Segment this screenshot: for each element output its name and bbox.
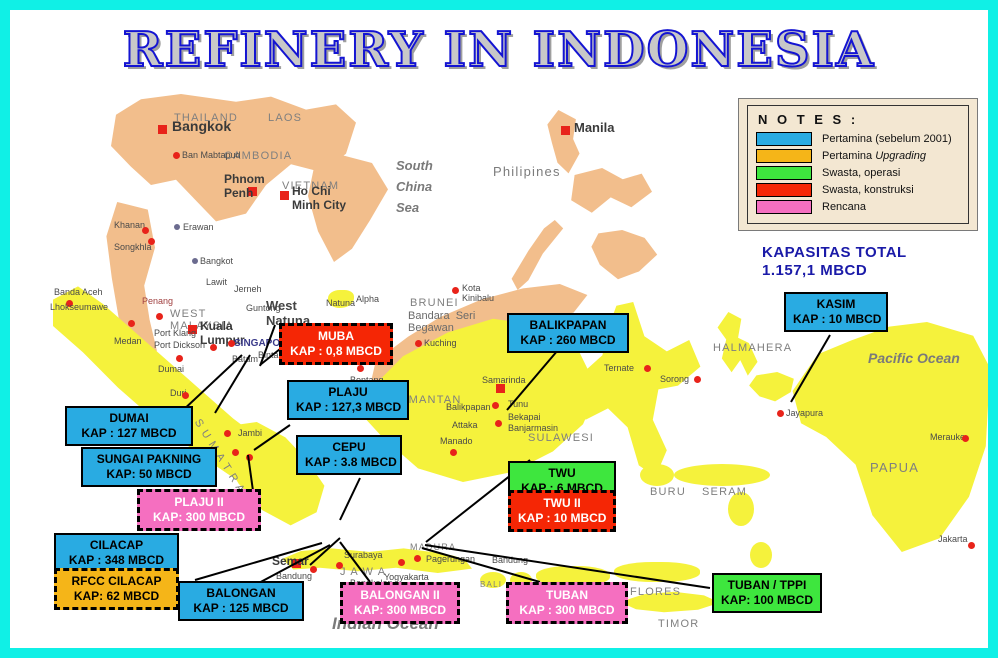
city-label-jerneh: Jerneh — [234, 284, 262, 294]
refinery-name-balikpapan: BALIKPAPAN — [516, 318, 620, 333]
city-label-manila: Manila — [574, 120, 614, 135]
city-label-merauke: Jakarta — [938, 534, 968, 544]
city-label-balikpapan: Attaka — [452, 420, 478, 430]
marker-duri — [182, 392, 189, 399]
city-label-port-klang: Port Klang — [154, 328, 196, 338]
geo-label-laos: LAOS — [268, 112, 302, 124]
city-label-dumai: Dumai — [158, 364, 184, 374]
marker-port-dickson — [210, 344, 217, 351]
refinery-kap-cilacap: KAP : 348 MBCD — [63, 553, 170, 568]
refinery-box-balongan-ii[interactable]: BALONGAN II KAP: 300 MBCD — [340, 582, 460, 624]
marker-banjarmasin — [450, 449, 457, 456]
marker-jayapura — [962, 435, 969, 442]
refinery-kap-tuban: KAP : 300 MBCD — [516, 603, 618, 618]
city-label-bandara-seri-begawan: Bandara Seri Begawan — [408, 310, 475, 334]
marker-bangkot — [192, 258, 198, 264]
refinery-box-twu-ii[interactable]: TWU II KAP : 10 MBCD — [508, 490, 616, 532]
refinery-box-kasim[interactable]: KASIM KAP : 10 MBCD — [784, 292, 888, 332]
geo-label-brunei: BRUNEI — [410, 297, 459, 309]
ocean-label-sea: Sea — [396, 200, 419, 215]
legend-panel: N O T E S : Pertamina (sebelum 2001) Per… — [738, 98, 978, 231]
refinery-name-balongan: BALONGAN — [187, 586, 295, 601]
legend-item-swasta-konstruksi: Swasta, konstruksi — [756, 183, 960, 197]
city-label-bontang: Samarinda — [482, 375, 526, 385]
refinery-name-twu: TWU — [517, 466, 607, 481]
refinery-kap-kasim: KAP : 10 MBCD — [793, 312, 879, 327]
city-label-banjarmasin: Manado — [440, 436, 473, 446]
refinery-kap-balongan: KAP : 125 MBCD — [187, 601, 295, 616]
city-label-sorong: Jayapura — [786, 408, 823, 418]
city-label-natuna: Natuna — [326, 298, 355, 308]
marker-penang — [156, 313, 163, 320]
refinery-box-balongan[interactable]: BALONGAN KAP : 125 MBCD — [178, 581, 304, 621]
city-label-erawan: Erawan — [183, 222, 214, 232]
map-canvas: REFINERY IN INDONESIA — [10, 10, 988, 648]
refinery-name-dumai: DUMAI — [74, 411, 184, 426]
refinery-name-muba: MUBA — [289, 329, 383, 344]
geo-label-buru: BURU — [650, 486, 686, 498]
city-label-jambi: Jambi — [238, 428, 262, 438]
refinery-kap-dumai: KAP : 127 MBCD — [74, 426, 184, 441]
refinery-kap-rfcc-cilacap: KAP: 62 MBCD — [64, 589, 169, 604]
refinery-name-plaju: PLAJU — [296, 385, 400, 400]
marker-medan — [128, 320, 135, 327]
landmass-philippines-palawan — [508, 220, 568, 290]
city-label-attaka: Tunu — [508, 399, 528, 409]
city-label-manado: Ternate — [604, 363, 634, 373]
refinery-box-cepu[interactable]: CEPU KAP : 3.8 MBCD — [296, 435, 402, 475]
landmass-flores — [614, 562, 700, 582]
refinery-kap-plaju: KAP : 127,3 MBCD — [296, 400, 400, 415]
city-label-lhokseumawe: Lhokseumawe — [50, 302, 108, 312]
landmass-philippines-visayas — [566, 168, 652, 238]
refinery-kap-cepu: KAP : 3.8 MBCD — [305, 455, 393, 470]
refinery-name-sungai-pakning: SUNGAI PAKNING — [90, 452, 208, 467]
city-label-khanan: Khanan — [114, 220, 145, 230]
refinery-box-tuban-tppi[interactable]: TUBAN / TPPI KAP: 100 MBCD — [712, 573, 822, 613]
legend-item-pertamina: Pertamina (sebelum 2001) — [756, 132, 960, 146]
legend-label-upgrading: Pertamina Upgrading — [822, 150, 926, 162]
marker-bintulu — [415, 340, 422, 347]
city-label-medan: Medan — [114, 336, 142, 346]
city-label-bandung: Bandung — [276, 571, 312, 581]
city-label-semar: Surabaya — [344, 550, 383, 560]
refinery-kap-balongan-ii: KAP: 300 MBCD — [350, 603, 450, 618]
geo-label-seram: SERAM — [702, 486, 747, 498]
legend-label-pertamina: Pertamina (sebelum 2001) — [822, 133, 952, 145]
city-label-ho-chi-minh: Ho Chi Minh City — [292, 184, 346, 212]
marker-manado — [644, 365, 651, 372]
city-label-jakarta: Semar — [272, 554, 309, 568]
legend-label-rencana: Rencana — [822, 201, 866, 213]
refinery-name-rfcc-cilacap: RFCC CILACAP — [64, 574, 169, 589]
refinery-box-plaju[interactable]: PLAJU KAP : 127,3 MBCD — [287, 380, 409, 420]
marker-ternate — [694, 376, 701, 383]
geo-label-timor: TIMOR — [658, 618, 699, 630]
city-label-banda-aceh: Banda Aceh — [54, 287, 103, 297]
legend-swatch-swasta-konstruksi — [756, 183, 812, 197]
marker-plaju1 — [224, 430, 231, 437]
geo-label-papua: PAPUA — [870, 460, 919, 475]
legend-item-upgrading: Pertamina Upgrading — [756, 149, 960, 163]
marker-singapore — [228, 340, 235, 347]
city-label-jayapura: Merauke — [930, 432, 965, 442]
city-label-lawit: Lawit — [206, 277, 227, 287]
city-label-songkhla: Songkhla — [114, 242, 152, 252]
landmass-buru — [640, 464, 674, 486]
marker-sorong — [777, 410, 784, 417]
refinery-kap-plaju-ii: KAP: 300 MBCD — [147, 510, 251, 525]
refinery-name-tuban-tppi: TUBAN / TPPI — [721, 578, 813, 593]
city-label-pagerungan: Bandung — [492, 555, 528, 565]
refinery-name-twu-ii: TWU II — [518, 496, 606, 511]
marker-songkhla — [148, 238, 155, 245]
ocean-label-pacific: Pacific Ocean — [868, 350, 960, 366]
refinery-kap-balikpapan: KAP : 260 MBCD — [516, 333, 620, 348]
city-label-bintulu: Kuching — [424, 338, 457, 348]
geo-label-sulawesi: SULAWESI — [528, 432, 594, 444]
refinery-kap-sungai-pakning: KAP: 50 MBCD — [90, 467, 208, 482]
marker-surabaya — [398, 559, 405, 566]
marker-balikpapan — [495, 420, 502, 427]
refinery-box-cilacap[interactable]: CILACAP KAP : 348 MBCD — [54, 533, 179, 573]
refinery-box-rfcc-cilacap[interactable]: RFCC CILACAP KAP: 62 MBCD — [54, 568, 179, 610]
refinery-box-sungai-pakning[interactable]: SUNGAI PAKNING KAP: 50 MBCD — [81, 447, 217, 487]
marker-manila — [561, 126, 570, 135]
marker-bangkalan — [414, 555, 421, 562]
marker-dumai — [176, 355, 183, 362]
city-label-samarinda: Balikpapan — [446, 402, 491, 412]
geo-label-bali: BALI — [480, 580, 502, 589]
page-title: REFINERY IN INDONESIA — [10, 22, 988, 78]
marker-khanan — [142, 227, 149, 234]
landmass-philippines-mindanao — [590, 230, 660, 286]
legend-item-swasta-operasi: Swasta, operasi — [756, 166, 960, 180]
city-label-bangkot: Bangkot — [200, 256, 233, 266]
refinery-name-cilacap: CILACAP — [63, 538, 170, 553]
city-label-bangkok: Bangkok — [172, 118, 231, 134]
legend-label-swasta-konstruksi: Swasta, konstruksi — [822, 184, 914, 196]
refinery-name-plaju-ii: PLAJU II — [147, 495, 251, 510]
marker-bontang — [496, 384, 505, 393]
marker-cilacap — [310, 566, 317, 573]
marker-plaju3 — [246, 454, 253, 461]
marker-kota-kinibalu — [452, 287, 459, 294]
city-label-bekapai: Banjarmasin — [508, 423, 558, 433]
capacity-total-line2: 1.157,1 MBCD — [762, 262, 907, 280]
city-label-bangkalan: Pagerungan — [426, 554, 475, 564]
legend-label-swasta-operasi: Swasta, operasi — [822, 167, 900, 179]
refinery-box-muba[interactable]: MUBA KAP : 0,8 MBCD — [279, 323, 393, 365]
geo-label-flores: FLORES — [630, 586, 681, 598]
refinery-name-balongan-ii: BALONGAN II — [350, 588, 450, 603]
refinery-box-balikpapan[interactable]: BALIKPAPAN KAP : 260 MBCD — [507, 313, 629, 353]
city-label-penang: Penang — [142, 296, 173, 306]
marker-merauke — [968, 542, 975, 549]
marker-samarinda — [492, 402, 499, 409]
geo-label-philippines: Philipines — [493, 164, 561, 179]
marker-bangkok — [158, 125, 167, 134]
city-label-alpha: Alpha — [356, 294, 379, 304]
ocean-label-south: South — [396, 158, 433, 173]
marker-plaju2 — [232, 449, 239, 456]
page-frame: REFINERY IN INDONESIA — [0, 0, 998, 658]
legend-swatch-swasta-operasi — [756, 166, 812, 180]
marker-erawan — [174, 224, 180, 230]
city-label-tunu: Bekapai — [508, 412, 541, 422]
refinery-name-cepu: CEPU — [305, 440, 393, 455]
capacity-total-line1: KAPASITAS TOTAL — [762, 244, 907, 262]
refinery-name-tuban: TUBAN — [516, 588, 618, 603]
legend-heading: N O T E S : — [758, 112, 960, 127]
geo-label-madura: MADURA — [410, 542, 456, 552]
geo-label-jawa: J A W A — [340, 566, 386, 578]
refinery-kap-tuban-tppi: KAP: 100 MBCD — [721, 593, 813, 608]
refinery-box-dumai[interactable]: DUMAI KAP : 127 MBCD — [65, 406, 193, 446]
refinery-kap-twu-ii: KAP : 10 MBCD — [518, 511, 606, 526]
refinery-box-plaju-ii[interactable]: PLAJU II KAP: 300 MBCD — [137, 489, 261, 531]
city-label-ternate: Sorong — [660, 374, 689, 384]
marker-kuching — [357, 365, 364, 372]
city-label-batam: Batam — [232, 354, 258, 364]
legend-item-rencana: Rencana — [756, 200, 960, 214]
ocean-label-china: China — [396, 179, 432, 194]
marker-cepu — [336, 562, 343, 569]
legend-swatch-rencana — [756, 200, 812, 214]
refinery-name-kasim: KASIM — [793, 297, 879, 312]
refinery-kap-muba: KAP : 0,8 MBCD — [289, 344, 383, 359]
marker-ban-mabtapud — [173, 152, 180, 159]
legend-swatch-upgrading — [756, 149, 812, 163]
geo-label-halmahera: HALMAHERA — [713, 342, 792, 354]
city-label-kota-kinibalu: Kota Kinibalu — [462, 283, 494, 303]
city-label-ban-mabtapud: Ban Mabtapud — [182, 150, 241, 160]
legend-swatch-pertamina — [756, 132, 812, 146]
city-label-port-dickson: Port Dickson — [154, 340, 205, 350]
city-label-phnom-penh: Phnom Penh — [224, 172, 265, 200]
capacity-total: KAPASITAS TOTAL 1.157,1 MBCD — [762, 244, 907, 280]
refinery-box-tuban[interactable]: TUBAN KAP : 300 MBCD — [506, 582, 628, 624]
city-label-guntong: Guntong — [246, 303, 281, 313]
landmass-small-maluku2 — [750, 542, 772, 568]
landmass-seram — [674, 464, 770, 486]
marker-ho-chi-minh — [280, 191, 289, 200]
